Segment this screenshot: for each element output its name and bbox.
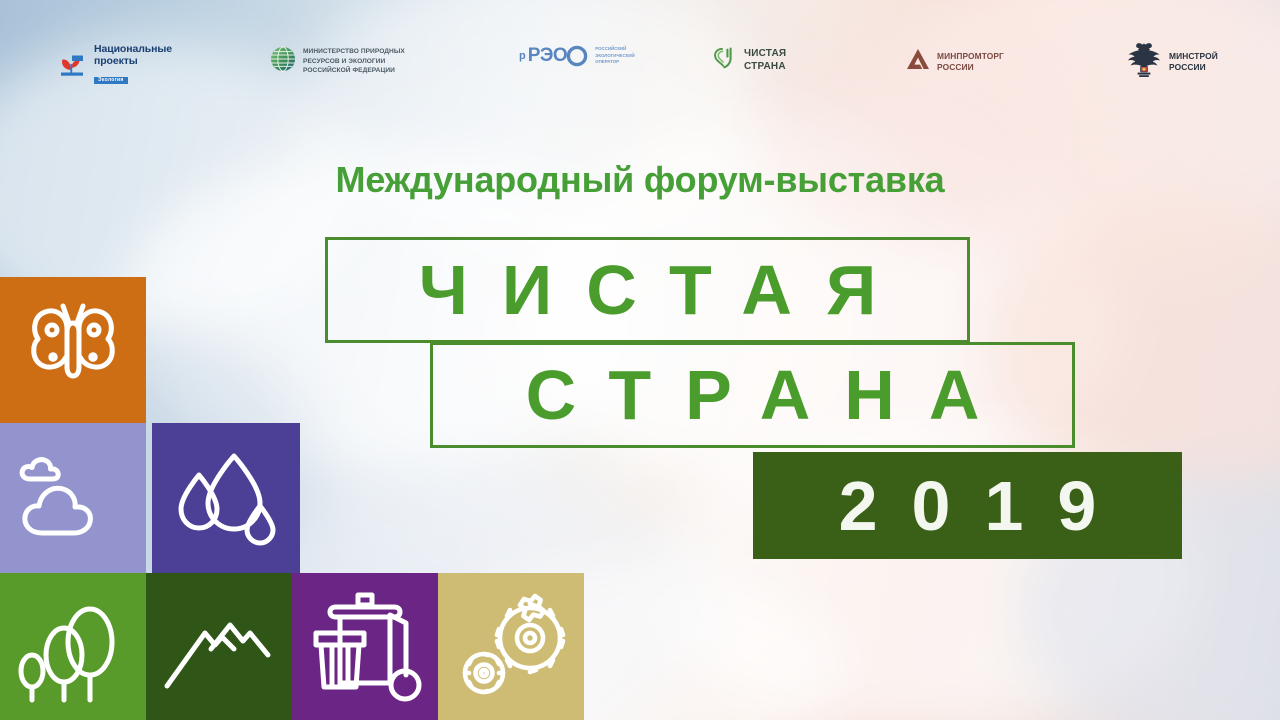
trees-icon [14, 601, 130, 703]
logo-label-line2: РЕСУРСОВ И ЭКОЛОГИИ [303, 57, 405, 66]
water-drops-icon [172, 448, 280, 548]
tile-gears [438, 573, 584, 720]
tile-mountains [146, 573, 292, 720]
gears-icon [454, 591, 570, 703]
title-year: 2019 [753, 471, 1182, 541]
triangle-icon [906, 48, 930, 75]
logo-label-line1: МИНПРОМТОРГ [937, 51, 1004, 61]
logo-minpromtorg: МИНПРОМТОРГ РОССИИ [906, 48, 1004, 75]
globe-icon [270, 46, 296, 77]
logo-ministry-natural-resources: МИНИСТЕРСТВО ПРИРОДНЫХ РЕСУРСОВ И ЭКОЛОГ… [270, 46, 405, 77]
waste-bins-icon [310, 589, 422, 705]
double-headed-eagle-icon [1126, 40, 1162, 83]
logo-reo: р РЭО РОССИЙСКИЙ ЭКОЛОГИЧЕСКИЙ ОПЕРАТОР [519, 45, 635, 67]
sponsor-logo-strip: Национальные проекты Экология [0, 0, 1280, 108]
logo-label-line2: СТРАНА [744, 61, 786, 74]
title-word-box-strana: СТРАНА [430, 342, 1075, 448]
logo-chistaya-strana: ЧИСТАЯ СТРАНА [711, 45, 786, 76]
butterfly-icon [23, 299, 123, 401]
logo-prefix: р [519, 50, 526, 62]
logo-label-line2: проекты [94, 56, 172, 68]
tile-trees [0, 573, 146, 720]
tile-clouds [0, 423, 146, 573]
logo-label-line1: МИНСТРОЙ [1169, 51, 1218, 62]
swan-leaf-icon [711, 45, 737, 76]
tile-butterfly [0, 277, 146, 423]
mountains-icon [164, 603, 276, 693]
title-word-box-chistaya: ЧИСТАЯ [325, 237, 970, 343]
tile-bins [292, 573, 438, 720]
title-word-strana: СТРАНА [433, 360, 1072, 430]
clouds-icon [18, 455, 128, 543]
event-subtitle: Международный форум-выставка [0, 159, 1280, 201]
logo-badge: Экология [94, 77, 128, 85]
logo-minstroy: МИНСТРОЙ РОССИИ [1126, 40, 1218, 83]
tile-drops [152, 423, 300, 573]
logo-national-projects: Национальные проекты Экология [57, 44, 172, 85]
logo-label-line1: РОССИЙСКИЙ [595, 46, 634, 53]
logo-label-line3: ОПЕРАТОР [595, 59, 634, 66]
logo-label-line1: Национальные [94, 44, 172, 56]
logo-label-line1: ЧИСТАЯ [744, 48, 786, 61]
logo-label-line2: РОССИИ [937, 62, 1004, 72]
logo-label-line1: МИНИСТЕРСТВО ПРИРОДНЫХ [303, 47, 405, 56]
title-year-box: 2019 [753, 452, 1182, 559]
logo-label-line3: РОССИЙСКОЙ ФЕДЕРАЦИИ [303, 66, 405, 75]
logo-label-line2: ЭКОЛОГИЧЕСКИЙ [595, 53, 634, 60]
logo-label-line2: РОССИИ [1169, 62, 1218, 73]
reo-ring-icon: р РЭО [519, 45, 588, 67]
title-word-chistaya: ЧИСТАЯ [328, 255, 967, 325]
sprout-flag-icon [57, 50, 87, 80]
poster-canvas: Национальные проекты Экология [0, 0, 1280, 720]
logo-mark: РЭО [528, 45, 567, 67]
